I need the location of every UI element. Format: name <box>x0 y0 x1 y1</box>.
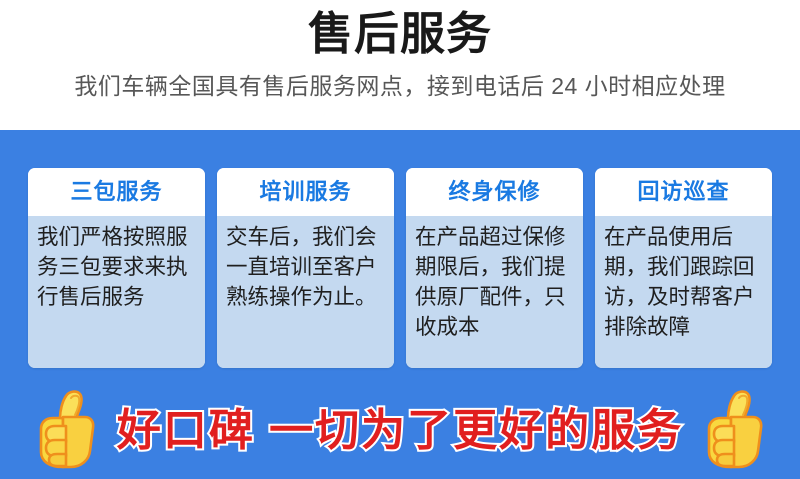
slogan-section: 好口碑 一切为了更好的服务 <box>0 383 800 479</box>
service-card[interactable]: 培训服务 交车后，我们会一直培训至客户熟练操作为止。 <box>217 168 394 368</box>
service-card-title: 回访巡查 <box>637 180 729 204</box>
service-card-header: 三包服务 <box>28 168 205 216</box>
promo-banner: 售后服务 我们车辆全国具有售后服务网点，接到电话后 24 小时相应处理 三包服务… <box>0 0 800 479</box>
service-card-header: 终身保修 <box>406 168 583 216</box>
service-card-body: 在产品超过保修期限后，我们提供原厂配件，只收成本 <box>406 216 583 368</box>
service-card[interactable]: 终身保修 在产品超过保修期限后，我们提供原厂配件，只收成本 <box>406 168 583 368</box>
service-card-text: 我们严格按照服务三包要求来执行售后服务 <box>37 222 197 312</box>
service-card-text: 交车后，我们会一直培训至客户熟练操作为止。 <box>226 222 386 312</box>
content-section: 三包服务 我们严格按照服务三包要求来执行售后服务 培训服务 交车后，我们会一直培… <box>0 130 800 479</box>
service-card-text: 在产品超过保修期限后，我们提供原厂配件，只收成本 <box>415 222 575 342</box>
service-card[interactable]: 回访巡查 在产品使用后期，我们跟踪回访，及时帮客户排除故障 <box>595 168 772 368</box>
service-card-list: 三包服务 我们严格按照服务三包要求来执行售后服务 培训服务 交车后，我们会一直培… <box>28 168 772 368</box>
service-card[interactable]: 三包服务 我们严格按照服务三包要求来执行售后服务 <box>28 168 205 368</box>
page-subtitle: 我们车辆全国具有售后服务网点，接到电话后 24 小时相应处理 <box>0 62 800 101</box>
service-card-title: 培训服务 <box>259 180 351 204</box>
service-card-header: 回访巡查 <box>595 168 772 216</box>
service-card-title: 终身保修 <box>448 180 540 204</box>
service-card-body: 交车后，我们会一直培训至客户熟练操作为止。 <box>217 216 394 368</box>
thumbs-up-icon <box>33 389 99 473</box>
page-title: 售后服务 <box>0 0 800 62</box>
service-card-title: 三包服务 <box>70 180 162 204</box>
header-section: 售后服务 我们车辆全国具有售后服务网点，接到电话后 24 小时相应处理 <box>0 0 800 130</box>
service-card-text: 在产品使用后期，我们跟踪回访，及时帮客户排除故障 <box>604 222 764 342</box>
service-card-body: 在产品使用后期，我们跟踪回访，及时帮客户排除故障 <box>595 216 772 368</box>
service-card-header: 培训服务 <box>217 168 394 216</box>
service-card-body: 我们严格按照服务三包要求来执行售后服务 <box>28 216 205 368</box>
thumbs-up-icon <box>701 389 767 473</box>
slogan-text: 好口碑 一切为了更好的服务 <box>117 404 683 458</box>
